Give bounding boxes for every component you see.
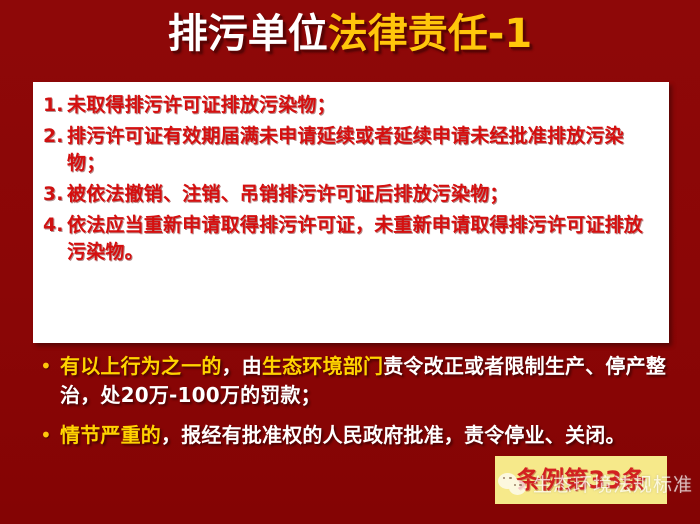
list-item-number: 1. [41,92,67,119]
bullet-list: • 有以上行为之一的，由生态环境部门责令改正或者限制生产、停产整治，处20万-1… [36,352,672,462]
bullet-item-text: 有以上行为之一的，由生态环境部门责令改正或者限制生产、停产整治，处20万-100… [60,352,672,410]
list-item-text: 被依法撤销、注销、吊销排污许可证后排放污染物； [67,181,661,208]
reference-tag-text: 条例第33条 [516,460,645,495]
bullet-marker-icon: • [36,421,60,449]
slide-title-highlight: 法律责任-1 [328,11,532,57]
reference-tag: 条例第33条 [495,456,667,504]
bullet-segment-highlight: 生态环境部门 [262,354,383,378]
list-item: 3. 被依法撤销、注销、吊销排污许可证后排放污染物； [41,181,661,208]
list-item-number: 2. [41,123,67,150]
bullet-segment-highlight: 有以上行为之一的 [60,354,222,378]
list-item: 2. 排污许可证有效期届满未申请延续或者延续申请未经批准排放污染物； [41,123,661,177]
content-panel: 1. 未取得排污许可证排放污染物； 2. 排污许可证有效期届满未申请延续或者延续… [33,82,669,343]
bullet-segment-plain: ，由 [222,354,262,378]
list-item: 1. 未取得排污许可证排放污染物； [41,92,661,119]
slide-title: 排污单位法律责任-1 [0,14,700,54]
list-item-text: 依法应当重新申请取得排污许可证，未重新申请取得排污许可证排放污染物。 [67,212,661,266]
list-item-text: 排污许可证有效期届满未申请延续或者延续申请未经批准排放污染物； [67,123,661,177]
bullet-marker-icon: • [36,352,60,380]
list-item-text: 未取得排污许可证排放污染物； [67,92,661,119]
bullet-item: • 情节严重的，报经有批准权的人民政府批准，责令停业、关闭。 [36,421,672,450]
slide-title-primary: 排污单位 [168,11,328,57]
list-item: 4. 依法应当重新申请取得排污许可证，未重新申请取得排污许可证排放污染物。 [41,212,661,266]
bullet-segment-plain: ，报经有批准权的人民政府批准，责令停业、关闭。 [161,423,626,447]
bullet-segment-highlight: 情节严重的 [60,423,161,447]
bullet-item: • 有以上行为之一的，由生态环境部门责令改正或者限制生产、停产整治，处20万-1… [36,352,672,410]
list-item-number: 4. [41,212,67,239]
list-item-number: 3. [41,181,67,208]
bullet-item-text: 情节严重的，报经有批准权的人民政府批准，责令停业、关闭。 [60,421,672,450]
